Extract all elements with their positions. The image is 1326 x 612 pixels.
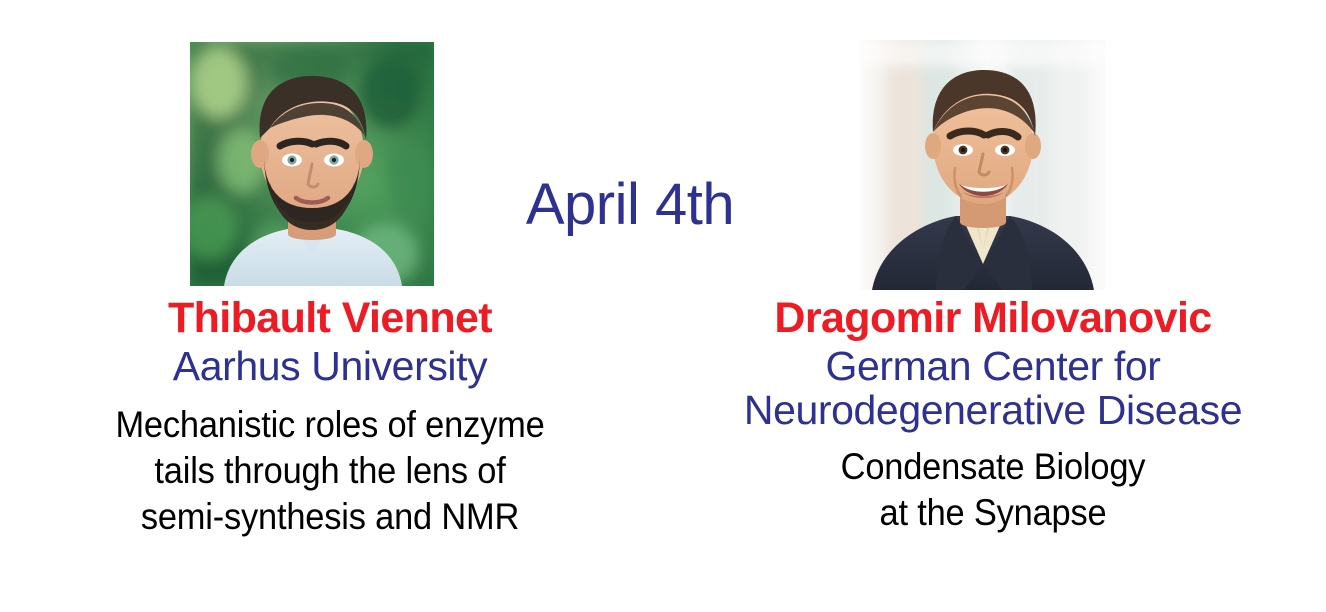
speaker-card-right: Dragomir Milovanovic German Center for N… [660,0,1326,612]
talk-title-line: Condensate Biology [683,444,1302,490]
talk-title-left: Mechanistic roles of enzyme tails throug… [23,402,637,540]
talk-title-right: Condensate Biology at the Synapse [683,444,1302,536]
talk-title-line: semi-synthesis and NMR [23,494,637,540]
speaker-card-left: Thibault Viennet Aarhus University Mecha… [0,0,660,612]
speaker-name-left: Thibault Viennet [0,296,660,342]
speaker-name-right: Dragomir Milovanovic [660,296,1326,342]
affiliation-line: German Center for [660,344,1326,388]
talk-title-line: tails through the lens of [23,448,637,494]
affiliation-line: Neurodegenerative Disease [660,388,1326,432]
portrait-illustration-left [190,42,434,286]
speaker-affiliation-right: German Center for Neurodegenerative Dise… [660,344,1326,433]
speaker-info-left: Thibault Viennet Aarhus University Mecha… [0,296,660,539]
affiliation-line: Aarhus University [0,344,660,388]
speaker-affiliation-left: Aarhus University [0,344,660,388]
portrait-illustration-right [860,40,1105,290]
speaker-photo-left [190,42,434,286]
talk-title-line: at the Synapse [683,490,1302,536]
speaker-info-right: Dragomir Milovanovic German Center for N… [660,296,1326,536]
speaker-photo-right [860,40,1105,290]
talk-title-line: Mechanistic roles of enzyme [23,402,637,448]
seminar-poster: April 4th [0,0,1326,612]
